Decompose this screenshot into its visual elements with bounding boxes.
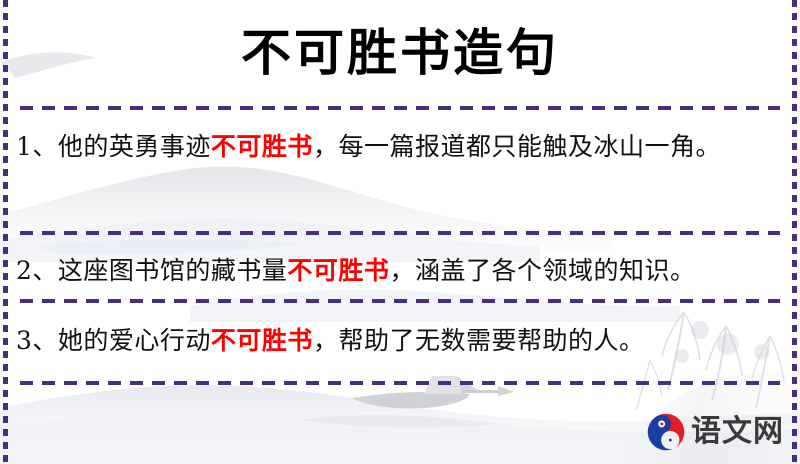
sentence-item-1: 1、他的英勇事迹不可胜书，每一篇报道都只能触及冰山一角。 xyxy=(16,126,776,168)
idiom-highlight-3: 不可胜书 xyxy=(211,326,313,355)
sentence-text-before-1: 他的英勇事迹 xyxy=(58,132,211,161)
sentence-text-after-3: ，帮助了无数需要帮助的人。 xyxy=(313,326,645,355)
sentence-text-before-3: 她的爱心行动 xyxy=(58,326,211,355)
sentence-list: 1、他的英勇事迹不可胜书，每一篇报道都只能触及冰山一角。 2、这座图书馆的藏书量… xyxy=(0,0,800,464)
sentence-item-2: 2、这座图书馆的藏书量不可胜书，涵盖了各个领域的知识。 xyxy=(16,250,776,292)
site-logo-text: 语文网 xyxy=(691,417,784,447)
sentence-text-after-2: ，涵盖了各个领域的知识。 xyxy=(389,256,695,285)
sentence-number-1: 1、 xyxy=(16,132,58,161)
sentence-text-before-2: 这座图书馆的藏书量 xyxy=(58,256,288,285)
sentence-number-2: 2、 xyxy=(16,256,58,285)
slide-canvas: 不可胜书造句 1、他的英勇事迹不可胜书，每一篇报道都只能触及冰山一角。 2、这座… xyxy=(0,0,800,464)
idiom-highlight-2: 不可胜书 xyxy=(287,256,389,285)
sentence-text-after-1: ，每一篇报道都只能触及冰山一角。 xyxy=(313,132,721,161)
left-dashed-border xyxy=(3,0,8,464)
idiom-highlight-1: 不可胜书 xyxy=(211,132,313,161)
site-logo[interactable]: 语文网 xyxy=(647,410,784,454)
sentence-number-3: 3、 xyxy=(16,326,58,355)
sentence-item-3: 3、她的爱心行动不可胜书，帮助了无数需要帮助的人。 xyxy=(16,320,776,362)
right-dashed-border xyxy=(792,0,797,464)
yinyang-circle-icon xyxy=(647,413,685,451)
